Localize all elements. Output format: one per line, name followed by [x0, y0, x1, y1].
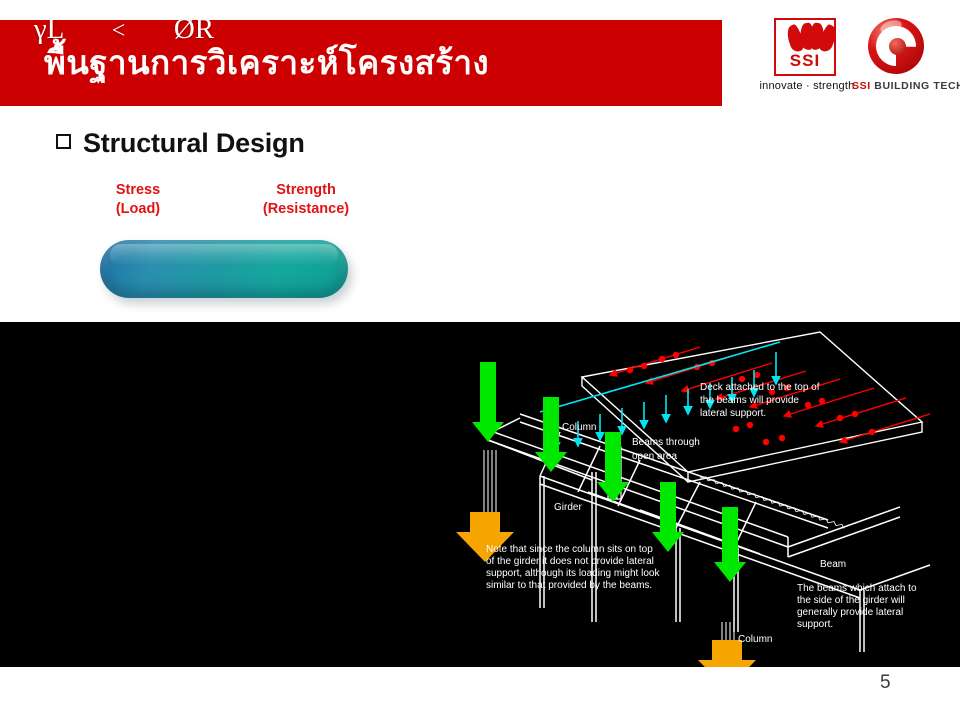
section-heading-label: Structural Design — [83, 128, 305, 159]
section-heading: Structural Design — [56, 128, 576, 164]
building-tech-suffix: BUILDING TECH — [874, 80, 960, 92]
strength-label-line2: (Resistance) — [232, 200, 380, 219]
logo-group: SSI innovate · strength SSI BUILDING TEC… — [752, 16, 952, 106]
right-label-beam: Beam — [820, 559, 846, 570]
page-number: 5 — [880, 672, 920, 694]
equation-text: γL < ØR — [0, 0, 248, 58]
building-tech-wordmark: SSI BUILDING TECH — [852, 80, 956, 92]
ssi-tagline: innovate · strength — [754, 80, 860, 92]
strength-label-line1: Strength — [232, 181, 380, 200]
deck-note-line2: the beams will provide — [700, 395, 799, 406]
building-tech-prefix: SSI — [852, 80, 871, 92]
right-label-beams-through-2: open area — [632, 451, 677, 462]
deck-note-line3: lateral support. — [700, 408, 766, 419]
swirl-icon — [864, 18, 928, 78]
ssi-logo: SSI innovate · strength — [762, 18, 852, 106]
equation-left: γL — [34, 13, 63, 45]
beams-note-line3: generally provide lateral — [797, 607, 903, 618]
slide: พื้นฐานการวิเคราะห์โครงสร้าง SSI innovat… — [0, 0, 960, 720]
right-lateral-support-diagram: Column Beams through open area Girder Be… — [456, 332, 930, 667]
right-label-column-bottom: Column — [738, 634, 772, 645]
equation-capsule — [100, 240, 348, 298]
equation-right: ØR — [174, 13, 214, 45]
figures-svg: Beam Girder Slab Vertical load paths Lat… — [0, 322, 960, 667]
column-note-line3: support, although its loading might look — [486, 568, 660, 579]
right-label-beams-through-1: Beams through — [632, 437, 700, 448]
stress-label: Stress (Load) — [88, 181, 188, 219]
ssi-wordmark: SSI — [774, 51, 836, 71]
figure-panel: Beam Girder Slab Vertical load paths Lat… — [0, 322, 960, 667]
bullet-square-icon — [56, 134, 71, 149]
strength-label: Strength (Resistance) — [232, 181, 380, 219]
beams-note-line4: support. — [797, 619, 833, 630]
equation-operator: < — [112, 18, 126, 44]
capsule-gloss — [110, 244, 338, 266]
building-tech-logo: SSI BUILDING TECH — [856, 18, 952, 106]
right-label-girder: Girder — [554, 502, 582, 513]
column-note-line1: Note that since the column sits on top — [486, 544, 653, 555]
beams-note-line1: The beams which attach to — [797, 583, 917, 594]
stress-label-line1: Stress — [88, 181, 188, 200]
column-note-line2: of the girder it does not provide latera… — [486, 556, 654, 567]
beams-note-line2: the side of the girder will — [797, 595, 905, 606]
deck-note-line1: Deck attached to the top of — [700, 382, 820, 393]
stress-label-line2: (Load) — [88, 200, 188, 219]
right-label-column-top: Column — [562, 422, 596, 433]
column-note-line4: similar to that provided by the beams. — [486, 580, 652, 591]
